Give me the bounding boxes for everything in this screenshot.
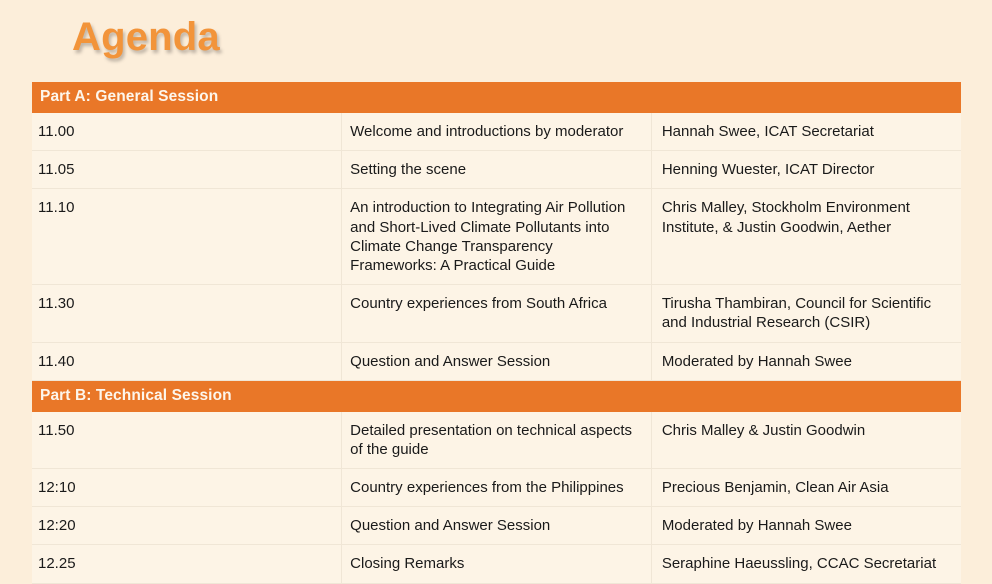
row-time: 12:20 — [32, 507, 342, 545]
row-speaker: Hannah Swee, ICAT Secretariat — [651, 113, 961, 151]
table-row: 11.40 Question and Answer Session Modera… — [32, 342, 961, 380]
row-time: 11.00 — [32, 113, 342, 151]
row-time: 12.25 — [32, 545, 342, 583]
agenda-slide: Agenda Part A: General Session 11.00 Wel… — [0, 0, 992, 558]
row-time: 11.05 — [32, 151, 342, 189]
row-speaker: Henning Wuester, ICAT Director — [651, 151, 961, 189]
section-header-row: Part A: General Session — [32, 82, 961, 113]
row-speaker: Seraphine Haeussling, CCAC Secretariat — [651, 545, 961, 583]
row-speaker: Moderated by Hannah Swee — [651, 507, 961, 545]
row-title: Welcome and introductions by moderator — [342, 113, 652, 151]
row-time: 12:10 — [32, 469, 342, 507]
table-row: 11.30 Country experiences from South Afr… — [32, 285, 961, 342]
section-header-row: Part B: Technical Session — [32, 380, 961, 412]
row-title: Setting the scene — [342, 151, 652, 189]
section-header-part-b: Part B: Technical Session — [32, 380, 961, 412]
row-time: 11.10 — [32, 189, 342, 285]
table-row: 11.05 Setting the scene Henning Wuester,… — [32, 151, 961, 189]
row-speaker: Precious Benjamin, Clean Air Asia — [651, 469, 961, 507]
row-title: Question and Answer Session — [342, 342, 652, 380]
table-row: 11.10 An introduction to Integrating Air… — [32, 189, 961, 285]
table-row: 11.00 Welcome and introductions by moder… — [32, 113, 961, 151]
row-speaker: Tirusha Thambiran, Council for Scientifi… — [651, 285, 961, 342]
row-time: 11.50 — [32, 412, 342, 469]
row-time: 11.40 — [32, 342, 342, 380]
agenda-table: Part A: General Session 11.00 Welcome an… — [32, 82, 961, 584]
row-title: Country experiences from the Philippines — [342, 469, 652, 507]
row-title: Question and Answer Session — [342, 507, 652, 545]
table-row: 12.25 Closing Remarks Seraphine Haeussli… — [32, 545, 961, 583]
table-row: 12:10 Country experiences from the Phili… — [32, 469, 961, 507]
row-title: Country experiences from South Africa — [342, 285, 652, 342]
row-time: 11.30 — [32, 285, 342, 342]
row-speaker: Chris Malley, Stockholm Environment Inst… — [651, 189, 961, 285]
row-title: Detailed presentation on technical aspec… — [342, 412, 652, 469]
table-row: 11.50 Detailed presentation on technical… — [32, 412, 961, 469]
table-row: 12:20 Question and Answer Session Modera… — [32, 507, 961, 545]
row-speaker: Chris Malley & Justin Goodwin — [651, 412, 961, 469]
section-header-part-a: Part A: General Session — [32, 82, 961, 113]
row-speaker: Moderated by Hannah Swee — [651, 342, 961, 380]
page-title: Agenda — [72, 14, 220, 60]
row-title: Closing Remarks — [342, 545, 652, 583]
row-title: An introduction to Integrating Air Pollu… — [342, 189, 652, 285]
